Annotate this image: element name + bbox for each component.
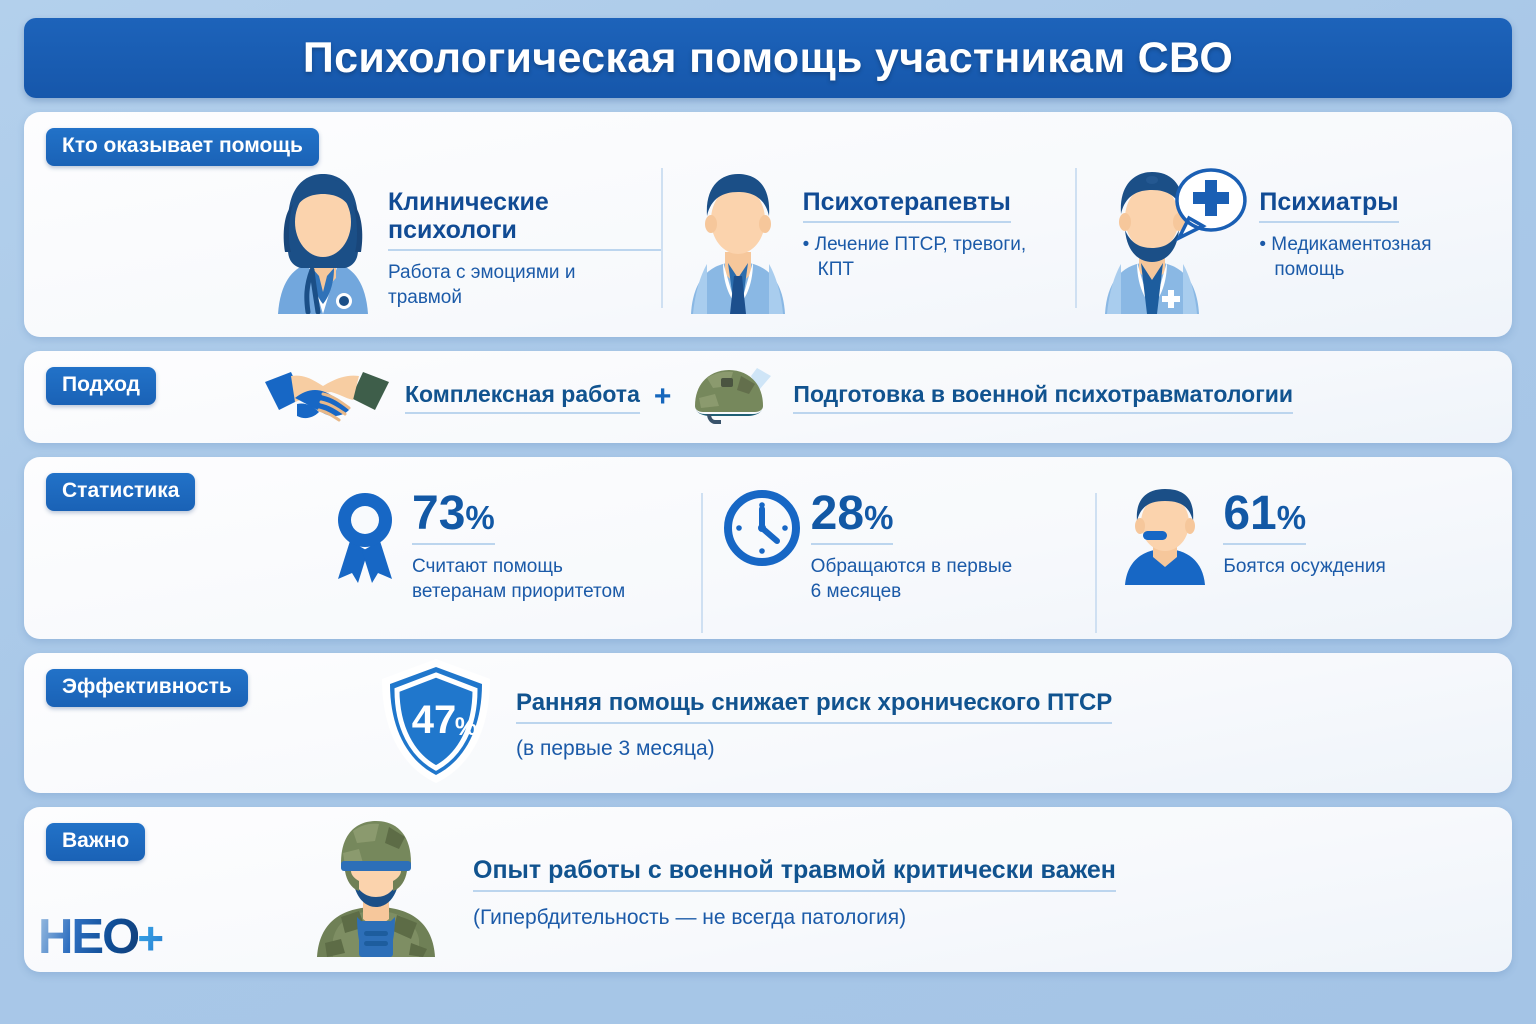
stat-value-priority: 73% (412, 491, 495, 545)
handshake-icon (261, 364, 393, 431)
stat-fear-of-judgement: 61% Боятся осуждения (1095, 487, 1490, 590)
badge-providers: Кто оказывает помощь (46, 128, 319, 166)
provider-text-clinical: Клинические психологи Работа с эмоциями … (388, 162, 661, 311)
section-providers: Кто оказывает помощь (24, 112, 1512, 337)
approach-first-label: Комплексная работа (405, 381, 640, 414)
shield-icon: 47 % (376, 657, 496, 790)
provider-text-psychotherapists: Психотерапевты • Лечение ПТСР, тревоги, … (803, 162, 1028, 283)
provider-desc-clinical: Работа с эмоциями и травмой (388, 260, 613, 311)
clock-icon (723, 489, 801, 572)
stat-first-six-months: 28% Обращаются в первые 6 месяцев (701, 487, 1096, 605)
provider-desc-psychiatrists: • Медикаментозная помощь (1259, 232, 1484, 283)
efficacy-row: 47 % Ранняя помощь снижает риск хроничес… (46, 669, 1490, 777)
badge-statistics: Статистика (46, 473, 195, 511)
infographic-page: Психологическая помощь участникам СВО Кт… (0, 0, 1536, 1024)
efficacy-main-text: Ранняя помощь снижает риск хронического … (516, 689, 1112, 724)
svg-text:%: % (455, 713, 477, 741)
brand-logo: НЕО + (38, 913, 164, 962)
stat-body-fear-of-judgement: 61% Боятся осуждения (1223, 487, 1385, 579)
provider-title-psychiatrists: Психиатры (1259, 188, 1398, 223)
important-text: Опыт работы с военной травмой критически… (473, 850, 1116, 930)
male-psychotherapist-avatar-icon (679, 164, 797, 319)
efficacy-text: Ранняя помощь снижает риск хронического … (516, 685, 1112, 761)
female-clinical-psychologist-avatar-icon (264, 164, 382, 319)
statistics-row: 73% Считают помощь ветеранам приоритетом (46, 473, 1490, 623)
approach-row: Комплексная работа + Подготовка в военно… (46, 367, 1490, 427)
page-header: Психологическая помощь участникам СВО (24, 18, 1512, 98)
stat-desc-priority: Считают помощь ветеранам приоритетом (412, 554, 627, 605)
military-helmet-icon (685, 364, 781, 431)
section-important: Важно (24, 807, 1512, 972)
approach-plus-sign: + (654, 380, 672, 414)
badge-important: Важно (46, 823, 145, 861)
important-main-text: Опыт работы с военной травмой критически… (473, 856, 1116, 892)
section-statistics: Статистика 73% Считают помощь ветеранам … (24, 457, 1512, 639)
svg-text:47: 47 (412, 698, 457, 742)
provider-desc-psychotherapists: • Лечение ПТСР, тревоги, КПТ (803, 232, 1028, 283)
page-title: Психологическая помощь участникам СВО (303, 34, 1233, 83)
important-row: Опыт работы с военной травмой критически… (46, 823, 1490, 956)
silenced-person-icon (1117, 489, 1213, 590)
stat-desc-fear-of-judgement: Боятся осуждения (1223, 554, 1385, 580)
important-note-text: (Гипербдительность — не всегда патология… (473, 906, 1116, 930)
approach-second-label: Подготовка в военной психотравматологии (793, 381, 1293, 414)
section-efficacy: Эффективность 47 % Ранняя помощь снижает… (24, 653, 1512, 793)
stat-body-first-six-months: 28% Обращаются в первые 6 месяцев (811, 487, 1026, 605)
efficacy-note-text: (в первые 3 месяца) (516, 737, 1112, 761)
badge-approach: Подход (46, 367, 156, 405)
provider-clinical-psychologists: Клинические психологи Работа с эмоциями … (246, 162, 661, 319)
stat-priority: 73% Считают помощь ветеранам приоритетом (306, 487, 701, 605)
provider-psychiatrists: Психиатры • Медикаментозная помощь (1075, 162, 1490, 319)
soldier-avatar-icon (301, 817, 451, 962)
brand-logo-plus-icon: + (137, 915, 164, 961)
stat-body-priority: 73% Считают помощь ветеранам приоритетом (412, 487, 627, 605)
provider-psychotherapists: Психотерапевты • Лечение ПТСР, тревоги, … (661, 162, 1076, 319)
stat-desc-first-six-months: Обращаются в первые 6 месяцев (811, 554, 1026, 605)
stat-value-first-six-months: 28% (811, 491, 894, 545)
bearded-psychiatrist-avatar-icon (1093, 164, 1253, 319)
badge-efficacy: Эффективность (46, 669, 248, 707)
provider-title-clinical: Клинические психологи (388, 188, 661, 251)
provider-text-psychiatrists: Психиатры • Медикаментозная помощь (1259, 162, 1484, 283)
award-ribbon-icon (328, 489, 402, 590)
provider-title-psychotherapists: Психотерапевты (803, 188, 1011, 223)
brand-logo-text: НЕО (38, 913, 138, 962)
section-approach: Подход Комплексная работа + (24, 351, 1512, 443)
stat-value-fear-of-judgement: 61% (1223, 491, 1306, 545)
